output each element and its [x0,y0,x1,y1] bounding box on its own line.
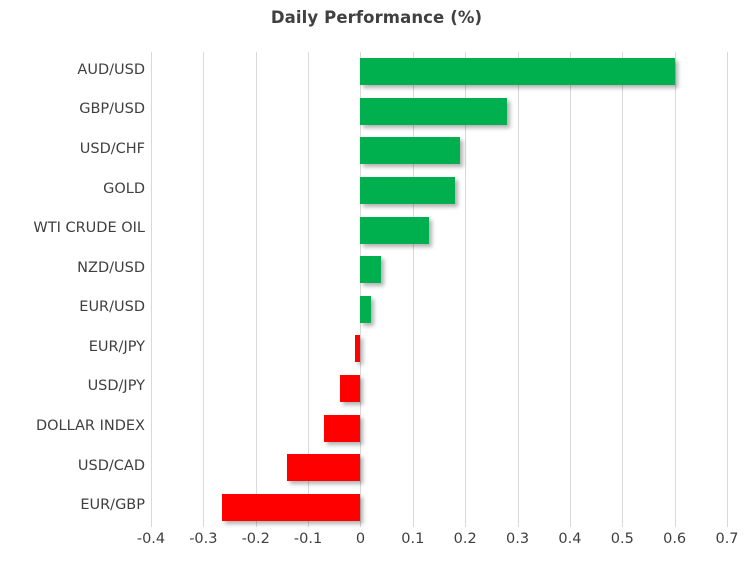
bar-eur-usd [360,296,370,323]
x-tick-0neg5: 0.5 [592,531,652,547]
bar-row [151,131,727,171]
x-tick-0neg6: 0.6 [645,531,705,547]
bar-eur-jpy [355,335,360,362]
bar-eur-gbp [222,494,361,521]
x-tick-0neg7: 0.7 [697,531,753,547]
x-tick-neg0-3: -0.3 [173,531,233,547]
bar-row [151,448,727,488]
chart-title: Daily Performance (%) [0,8,753,27]
bar-row [151,290,727,330]
y-axis-category-labels: AUD/USDGBP/USDUSD/CHFGOLDWTI CRUDE OILNZ… [0,52,145,527]
y-label-usd-jpy: USD/JPY [0,378,145,394]
bar-row [151,329,727,369]
y-label-eur-gbp: EUR/GBP [0,497,145,513]
bar-usd-chf [360,137,459,164]
y-label-usd-cad: USD/CAD [0,458,145,474]
y-label-dollar-index: DOLLAR INDEX [0,418,145,434]
x-tick-0: 0 [330,531,390,547]
y-label-aud-usd: AUD/USD [0,62,145,78]
bar-usd-cad [287,454,360,481]
bar-row [151,171,727,211]
bar-usd-jpy [340,375,361,402]
y-label-eur-usd: EUR/USD [0,299,145,315]
x-tick-0neg4: 0.4 [540,531,600,547]
x-tick-0neg1: 0.1 [383,531,443,547]
x-tick-0neg3: 0.3 [488,531,548,547]
y-label-eur-jpy: EUR/JPY [0,339,145,355]
bar-dollar-index [324,415,361,442]
gridline-0-7 [727,52,728,527]
bar-row [151,92,727,132]
x-tick-neg0-1: -0.1 [278,531,338,547]
bar-row [151,369,727,409]
bar-wti-crude-oil [360,217,428,244]
y-label-gold: GOLD [0,181,145,197]
bar-gbp-usd [360,98,507,125]
x-axis-tick-labels: -0.4-0.3-0.2-0.100.10.20.30.40.50.60.7 [151,531,727,559]
x-tick-neg0-2: -0.2 [226,531,286,547]
y-label-gbp-usd: GBP/USD [0,101,145,117]
plot-area [151,52,727,527]
y-label-usd-chf: USD/CHF [0,141,145,157]
bar-row [151,487,727,527]
y-label-nzd-usd: NZD/USD [0,260,145,276]
bar-row [151,210,727,250]
y-label-wti-crude-oil: WTI CRUDE OIL [0,220,145,236]
bar-row [151,52,727,92]
bar-row [151,250,727,290]
daily-performance-chart: Daily Performance (%) AUD/USDGBP/USDUSD/… [0,0,753,568]
bar-gold [360,177,454,204]
bar-aud-usd [360,58,674,85]
bar-row [151,408,727,448]
x-tick-0neg2: 0.2 [435,531,495,547]
bar-nzd-usd [360,256,381,283]
x-tick-neg0-4: -0.4 [121,531,181,547]
